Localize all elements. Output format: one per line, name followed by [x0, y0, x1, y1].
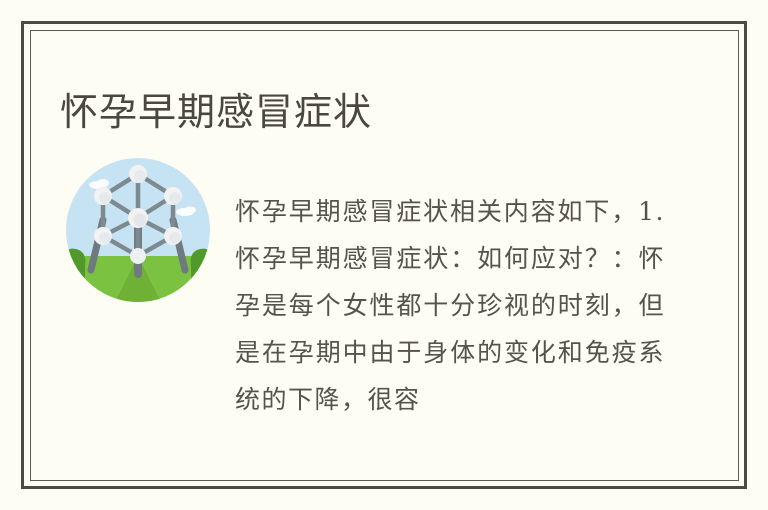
atomium-landmark-illustration — [63, 158, 213, 302]
page-title: 怀孕早期感冒症状 — [60, 87, 372, 139]
article-body-text: 怀孕早期感冒症状相关内容如下，1. 怀孕早期感冒症状：如何应对？：怀孕是每个女性… — [235, 188, 665, 423]
article-content: 怀孕早期感冒症状相关内容如下，1. 怀孕早期感冒症状：如何应对？：怀孕是每个女性… — [60, 155, 680, 415]
article-thumbnail — [63, 158, 213, 302]
document-page: 怀孕早期感冒症状 — [0, 0, 768, 510]
